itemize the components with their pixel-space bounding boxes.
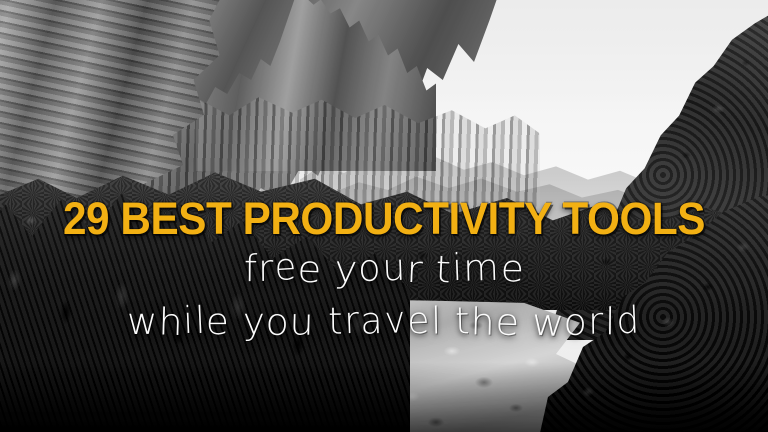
bottom-vignette [0, 362, 768, 432]
canyon-photo [0, 0, 768, 432]
header-graphic: 29 BEST PRODUCTIVITY TOOLS free your tim… [0, 0, 768, 432]
